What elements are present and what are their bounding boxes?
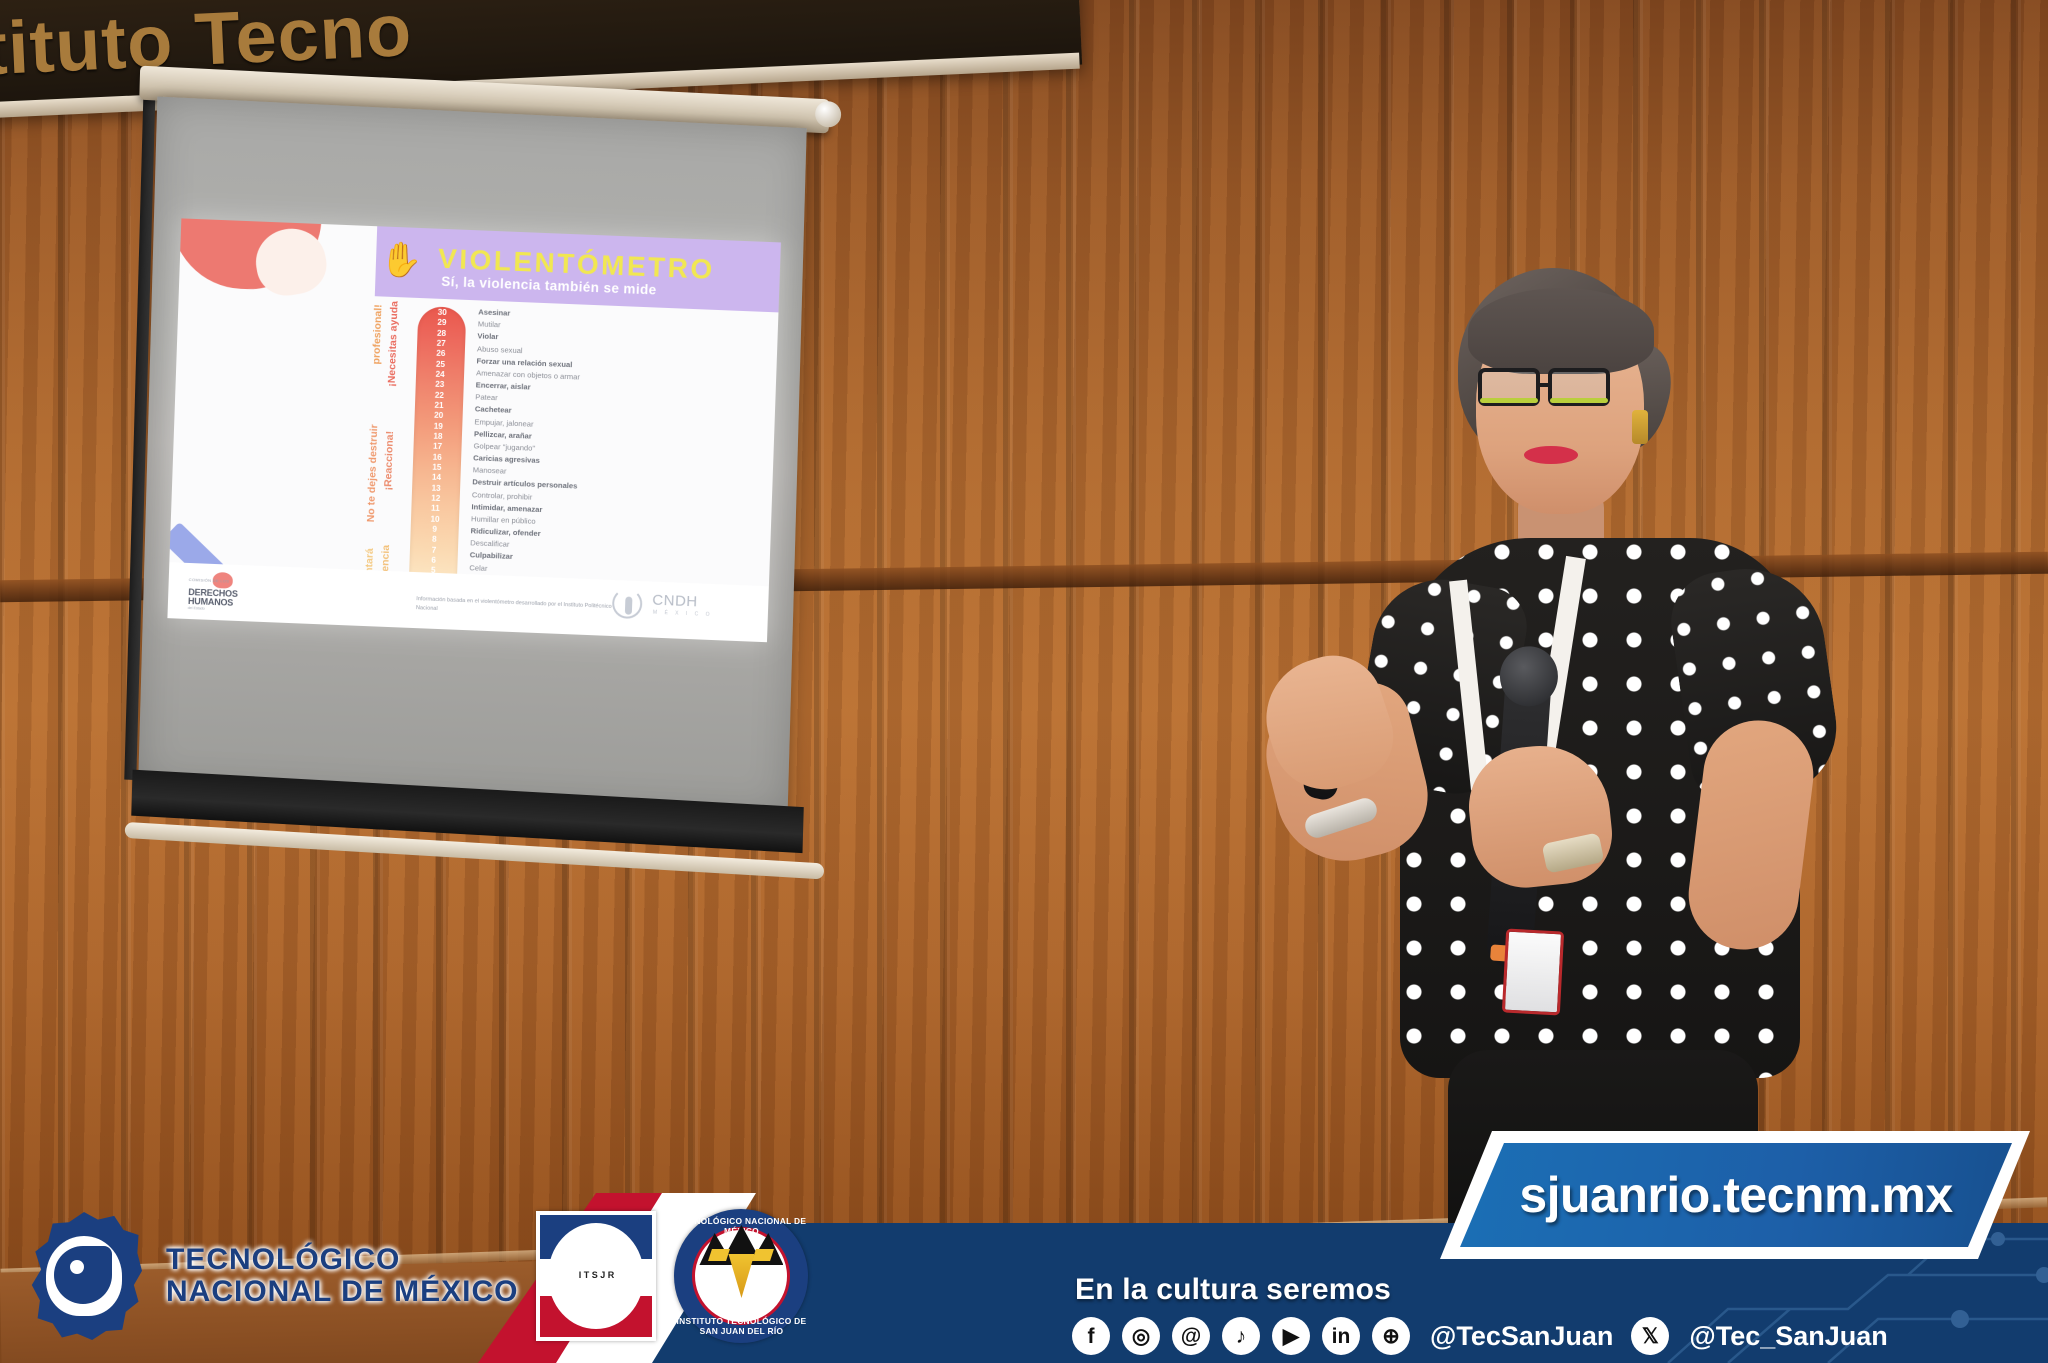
eagle-head-icon	[692, 1227, 790, 1325]
eyeglasses-accent-left	[1480, 398, 1538, 403]
presenter	[1280, 250, 1800, 1270]
scale-number: 21	[434, 402, 443, 411]
scale-number: 30	[438, 309, 447, 318]
scale-number: 13	[431, 484, 440, 493]
presenter-lips	[1524, 446, 1578, 464]
tecnm-line1: TECNOLÓGICO	[166, 1244, 518, 1276]
projection-screen: ✋ VIOLENTÓMETRO Sí, la violencia también…	[139, 80, 797, 791]
threads-icon[interactable]: @	[1172, 1317, 1210, 1355]
scale-number: 26	[436, 350, 445, 359]
social-handle-x: @Tec_SanJuan	[1689, 1321, 1887, 1352]
tecnm-line2: NACIONAL DE MÉXICO	[166, 1276, 518, 1308]
scale-number: 25	[436, 360, 445, 369]
screenshot-root: stituto Tecno ✋ VIOLENTÓMETRO Sí, la vio…	[0, 0, 2048, 1363]
cndh-mark-icon	[612, 588, 643, 619]
scale-number: 28	[437, 329, 446, 338]
shield-center-seal: I T S J R	[548, 1223, 644, 1329]
social-handle-main: @TecSanJuan	[1430, 1321, 1613, 1352]
scale-number: 20	[434, 412, 443, 421]
linkedin-icon[interactable]: in	[1322, 1317, 1360, 1355]
slide-footer-note: Información basada en el violentómetro d…	[416, 595, 616, 620]
side-label-need-help-a: ¡Necesitas ayuda	[386, 301, 401, 387]
aztec-head-shape	[54, 1246, 112, 1304]
cndh-sub: M É X I C O	[653, 610, 713, 618]
scale-number: 6	[431, 557, 436, 565]
tiktok-icon[interactable]: ♪	[1222, 1317, 1260, 1355]
scale-number: 18	[433, 433, 442, 442]
derechos-humanos-logo: COMISIÓN DE LOS DERECHOS HUMANOS del Est…	[188, 571, 259, 614]
scale-number: 17	[433, 443, 442, 452]
aztec-head-eye	[70, 1260, 84, 1274]
tecnm-wordmark: TECNOLÓGICO NACIONAL DE MÉXICO	[166, 1244, 518, 1309]
x-twitter-icon[interactable]: 𝕏	[1631, 1317, 1669, 1355]
website-url: sjuanrio.tecnm.mx	[1519, 1166, 1952, 1224]
eagle-beak	[728, 1254, 754, 1298]
scale-number: 10	[430, 515, 439, 524]
screen-canvas: ✋ VIOLENTÓMETRO Sí, la violencia también…	[138, 96, 807, 817]
scale-number: 12	[431, 495, 440, 504]
institution-logos: TECNOLÓGICO NACIONAL DE MÉXICO I T S J R…	[20, 1201, 808, 1351]
banner-tagline: En la cultura seremos	[1075, 1273, 1391, 1307]
eagle-seal-icon: TECNOLÓGICO NACIONAL DE MÉXICO INSTITUTO…	[674, 1209, 808, 1343]
side-label-react-b: No te dejes destruir	[365, 424, 380, 522]
scale-number: 14	[432, 474, 441, 483]
eagle-seal-ring-bottom: INSTITUTO TECNOLÓGICO DE SAN JUAN DEL RÍ…	[674, 1316, 808, 1336]
scale-number: 9	[432, 526, 437, 534]
youtube-icon[interactable]: ▶	[1272, 1317, 1310, 1355]
scale-number: 16	[432, 453, 441, 462]
social-media-row[interactable]: f◎@♪▶in⊕@TecSanJuan𝕏@Tec_SanJuan	[1072, 1317, 1894, 1355]
scale-number: 11	[431, 505, 440, 514]
scale-number: 8	[432, 536, 437, 544]
website-url-plate[interactable]: sjuanrio.tecnm.mx	[1460, 1143, 2012, 1247]
scale-number: 27	[436, 340, 445, 349]
facebook-icon[interactable]: f	[1072, 1317, 1110, 1355]
scale-number: 24	[435, 371, 444, 380]
scale-number: 29	[437, 319, 446, 328]
dh-small-bottom: del Estado	[188, 606, 205, 611]
presenter-earring	[1632, 410, 1648, 444]
eyeglasses-bridge	[1540, 383, 1550, 387]
aztec-gear-icon	[20, 1206, 148, 1346]
bluesky-icon[interactable]: ⊕	[1372, 1317, 1410, 1355]
cndh-name: CNDH	[652, 592, 698, 611]
eyeglasses-accent-right	[1550, 398, 1608, 403]
cndh-logo: CNDH M É X I C O	[612, 588, 743, 627]
scale-number: 19	[434, 422, 443, 431]
scale-number: 23	[435, 381, 444, 390]
side-label-need-help-b: profesional!	[370, 304, 384, 365]
side-label-react-a: ¡Reacciona!	[382, 431, 396, 491]
itsjr-shield-icon: I T S J R	[536, 1211, 656, 1341]
presenter-hair-front	[1468, 288, 1654, 374]
instagram-icon[interactable]: ◎	[1122, 1317, 1160, 1355]
scale-number: 22	[435, 391, 444, 400]
scale-number: 7	[432, 546, 437, 554]
raised-hand-icon: ✋	[379, 242, 422, 278]
presenter-id-badge	[1502, 929, 1564, 1016]
scale-number: 15	[432, 464, 441, 473]
projected-slide: ✋ VIOLENTÓMETRO Sí, la violencia también…	[167, 218, 781, 642]
dh-small-top: COMISIÓN DE LOS	[189, 577, 230, 584]
